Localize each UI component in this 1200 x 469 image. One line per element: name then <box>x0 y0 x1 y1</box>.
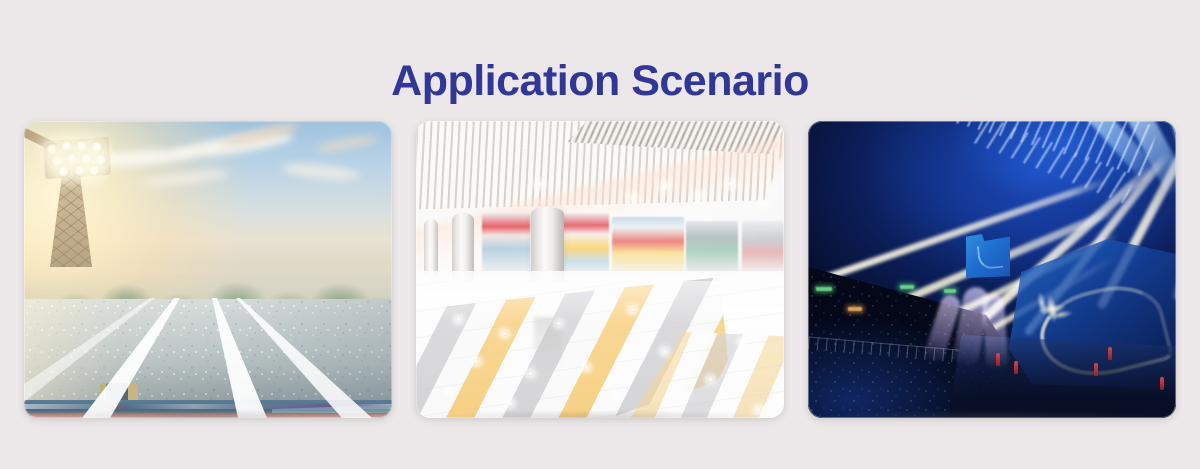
performer <box>1108 347 1112 360</box>
scenario-card-row <box>24 121 1176 418</box>
exit-sign <box>944 289 956 293</box>
ceiling-downlight <box>662 183 668 189</box>
performer <box>1014 361 1018 374</box>
performer <box>1094 363 1098 376</box>
stadium-image <box>24 121 392 418</box>
storefront <box>742 221 784 273</box>
page-title: Application Scenario <box>391 57 809 105</box>
scenario-card-shopping-mall[interactable] <box>416 121 784 418</box>
application-scenario-section: Application Scenario <box>0 0 1200 469</box>
scenario-card-stadium[interactable] <box>24 121 392 418</box>
floor-specular-highlight <box>612 393 617 398</box>
bottom-fade <box>24 410 392 418</box>
storefront <box>561 213 609 275</box>
floor-specular-highlight <box>474 359 479 364</box>
floor-specular-highlight <box>556 321 561 326</box>
ceiling-downlight <box>696 193 702 199</box>
floor-specular-highlight <box>708 377 713 382</box>
exit-sign <box>848 307 862 311</box>
floor-specular-highlight <box>756 407 761 412</box>
floor-specular-highlight <box>502 331 507 336</box>
floor-specular-highlight <box>528 371 533 376</box>
scenario-card-concert-arena[interactable] <box>808 121 1176 418</box>
floor-grout-lines <box>416 281 784 418</box>
floor-specular-highlight <box>446 389 451 394</box>
floor-specular-highlight <box>584 365 589 370</box>
shopping-mall-image <box>416 121 784 418</box>
ceiling-downlight <box>728 181 734 187</box>
track-lane-lines <box>24 121 392 418</box>
performer <box>996 353 1000 366</box>
performer <box>1160 377 1164 390</box>
exit-sign <box>900 285 914 289</box>
floor-specular-highlight <box>508 401 513 406</box>
ceiling-downlight <box>536 181 542 187</box>
storefront <box>686 221 738 273</box>
storefront <box>482 213 530 275</box>
floor-specular-highlight <box>662 349 667 354</box>
ceiling-downlight <box>760 201 766 207</box>
storefront <box>612 217 684 275</box>
page-title-wrapper: Application Scenario <box>0 28 1200 134</box>
floor-specular-highlight <box>630 307 635 312</box>
floor-specular-highlight <box>740 339 745 344</box>
ceiling-downlight <box>630 195 636 201</box>
stage-floor <box>948 335 1176 418</box>
exit-sign <box>816 287 832 291</box>
concert-arena-image <box>808 121 1176 418</box>
floor-specular-highlight <box>456 317 461 322</box>
mall-column <box>424 219 438 279</box>
